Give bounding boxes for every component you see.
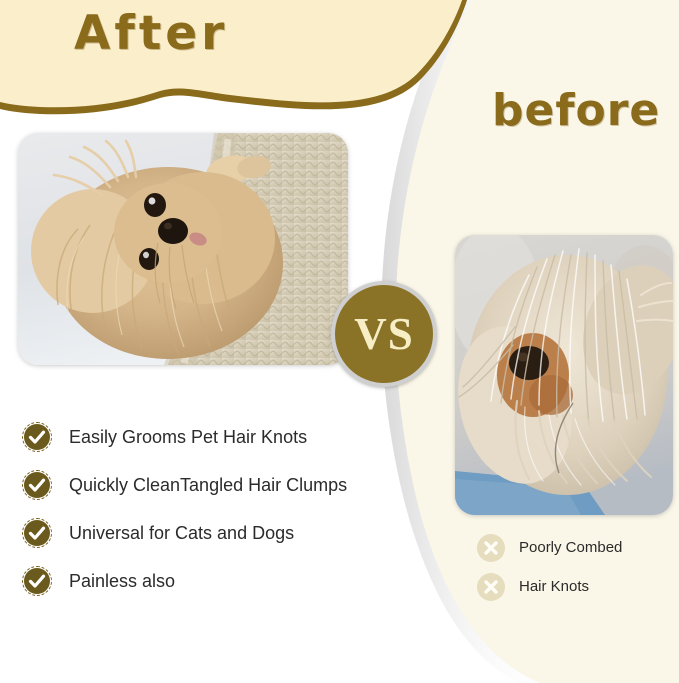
benefit-label: Painless also	[69, 571, 175, 592]
drawbacks-list: Poorly Combed Hair Knots	[477, 528, 667, 606]
cross-icon	[477, 573, 505, 601]
list-item: Hair Knots	[477, 567, 667, 606]
drawback-label: Poorly Combed	[519, 539, 622, 556]
benefit-label: Quickly CleanTangled Hair Clumps	[69, 475, 347, 496]
drawback-label: Hair Knots	[519, 578, 589, 595]
vs-label: VS	[354, 312, 414, 357]
after-photo	[18, 133, 348, 365]
before-photo	[455, 235, 673, 515]
benefit-label: Easily Grooms Pet Hair Knots	[69, 427, 307, 448]
benefit-label: Universal for Cats and Dogs	[69, 523, 294, 544]
vs-badge: VS	[331, 281, 437, 387]
check-icon	[22, 518, 52, 548]
product-comparison-graphic: After before	[0, 0, 679, 683]
list-item: Painless also	[22, 557, 382, 605]
list-item: Universal for Cats and Dogs	[22, 509, 382, 557]
benefits-list: Easily Grooms Pet Hair Knots Quickly Cle…	[22, 413, 382, 605]
after-heading: After	[74, 6, 228, 61]
ungroomed-matted-yorkshire-terrier-photo	[455, 235, 673, 515]
list-item: Poorly Combed	[477, 528, 667, 567]
cross-icon	[477, 534, 505, 562]
check-icon	[22, 470, 52, 500]
check-icon	[22, 422, 52, 452]
before-heading: before	[492, 85, 660, 136]
list-item: Easily Grooms Pet Hair Knots	[22, 413, 382, 461]
list-item: Quickly CleanTangled Hair Clumps	[22, 461, 382, 509]
check-icon	[22, 566, 52, 596]
groomed-yorkshire-terrier-in-knitted-basket-photo	[18, 133, 348, 365]
